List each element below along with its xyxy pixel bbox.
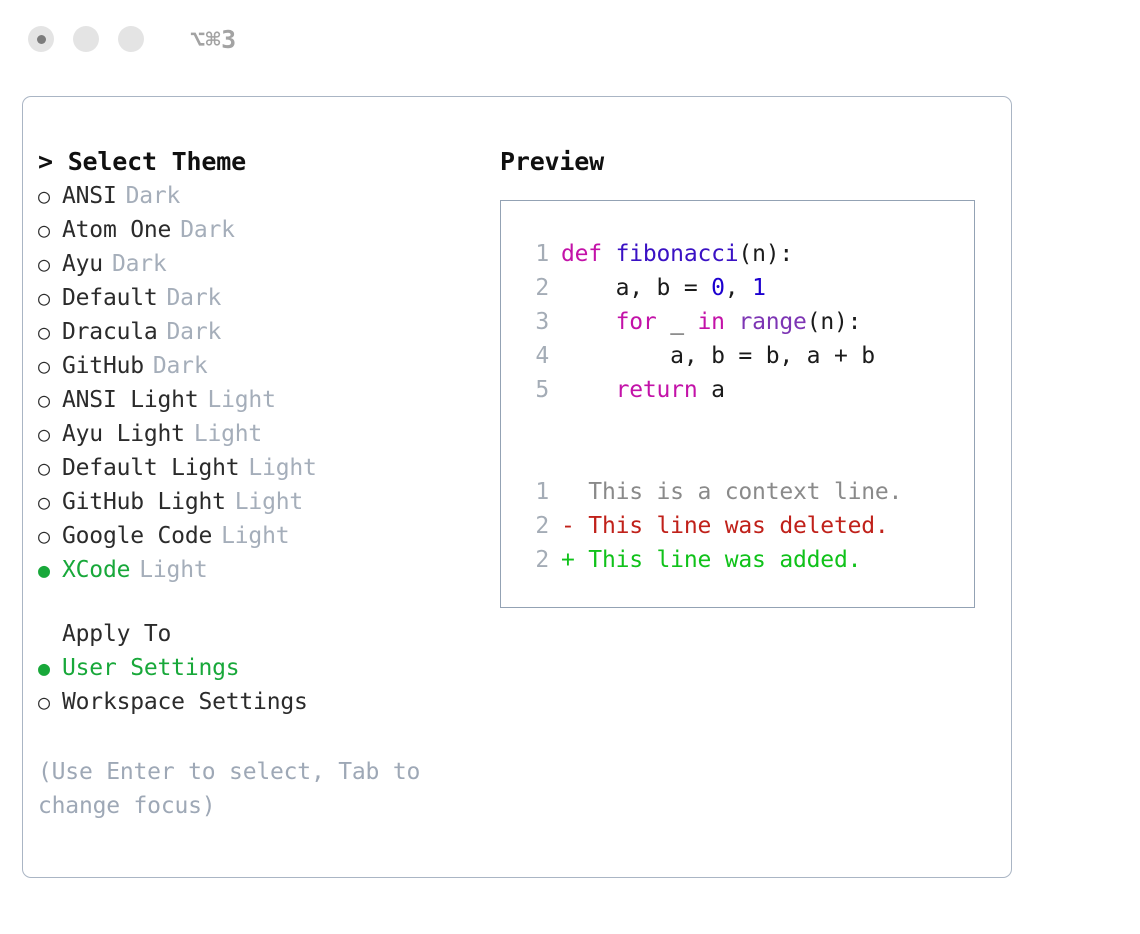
theme-option-label: Dracula: [62, 315, 158, 349]
diff-line-content: + This line was added.: [561, 543, 861, 577]
theme-option-ayu-light[interactable]: ○Ayu LightLight: [38, 417, 478, 451]
preview-box: 1def fibonacci(n):2 a, b = 0, 13 for _ i…: [500, 200, 975, 608]
theme-option-label: Default Light: [62, 451, 239, 485]
theme-option-label: Ayu Light: [62, 417, 185, 451]
radio-selected-icon: ●: [38, 651, 62, 685]
code-line-number: 3: [515, 305, 549, 339]
code-token: (n):: [738, 241, 793, 267]
radio-unselected-icon: ○: [38, 213, 62, 247]
apply-to-option-label: Workspace Settings: [62, 685, 308, 719]
theme-option-label: Default: [62, 281, 158, 315]
code-line-content: for _ in range(n):: [561, 305, 861, 339]
radio-unselected-icon: ○: [38, 485, 62, 519]
keyboard-shortcut-label: ⌥⌘3: [190, 27, 237, 52]
code-token: a, b = b, a + b: [561, 343, 875, 369]
theme-option-github-light[interactable]: ○GitHub LightLight: [38, 485, 478, 519]
theme-variant-tag: Light: [235, 485, 303, 519]
theme-variant-tag: Light: [139, 553, 207, 587]
preview-heading: Preview: [500, 145, 990, 179]
code-token: [725, 309, 739, 335]
theme-variant-tag: Light: [207, 383, 275, 417]
code-line-content: a, b = b, a + b: [561, 339, 875, 373]
theme-option-ansi[interactable]: ○ANSIDark: [38, 179, 478, 213]
preview-column: Preview 1def fibonacci(n):2 a, b = 0, 13…: [500, 145, 990, 608]
code-line: 4 a, b = b, a + b: [515, 339, 974, 373]
diff-line-number: 2: [515, 543, 549, 577]
code-line-number: 1: [515, 237, 549, 271]
theme-variant-tag: Light: [221, 519, 289, 553]
code-spacer-2: [515, 441, 974, 475]
radio-unselected-icon: ○: [38, 315, 62, 349]
code-line: 5 return a: [515, 373, 974, 407]
traffic-light-3-button[interactable]: [118, 26, 144, 52]
code-line-number: 2: [515, 271, 549, 305]
code-token: ,: [725, 275, 752, 301]
code-token: [561, 309, 616, 335]
theme-option-label: Google Code: [62, 519, 212, 553]
radio-unselected-icon: ○: [38, 247, 62, 281]
title-bar: ⌥⌘3: [0, 0, 1140, 78]
code-line-content: def fibonacci(n):: [561, 237, 793, 271]
code-token: fibonacci: [616, 241, 739, 267]
code-line-content: return a: [561, 373, 725, 407]
code-token: [561, 377, 616, 403]
radio-unselected-icon: ○: [38, 349, 62, 383]
theme-list: ○ANSIDark○Atom OneDark○AyuDark○DefaultDa…: [38, 179, 478, 587]
apply-to-option-workspace-settings[interactable]: ○Workspace Settings: [38, 685, 478, 719]
radio-unselected-icon: ○: [38, 519, 62, 553]
diff-line: 2- This line was deleted.: [515, 509, 974, 543]
select-theme-heading: > Select Theme: [38, 145, 478, 179]
code-line-content: a, b = 0, 1: [561, 271, 766, 305]
code-line: 1def fibonacci(n):: [515, 237, 974, 271]
keyboard-hint-text: (Use Enter to select, Tab to change focu…: [38, 755, 438, 823]
diff-line-number: 2: [515, 509, 549, 543]
theme-variant-tag: Dark: [112, 247, 167, 281]
theme-option-label: GitHub: [62, 349, 144, 383]
diff-sample: 1 This is a context line.2- This line wa…: [515, 475, 974, 577]
code-sample: 1def fibonacci(n):2 a, b = 0, 13 for _ i…: [515, 237, 974, 407]
traffic-light-active-button[interactable]: [28, 26, 54, 52]
code-line-number: 4: [515, 339, 549, 373]
diff-line: 1 This is a context line.: [515, 475, 974, 509]
theme-option-atom-one[interactable]: ○Atom OneDark: [38, 213, 478, 247]
code-token: _: [657, 309, 698, 335]
code-line-number: 5: [515, 373, 549, 407]
apply-to-heading: Apply To: [38, 617, 478, 651]
apply-to-option-label: User Settings: [62, 651, 239, 685]
theme-variant-tag: Dark: [167, 281, 222, 315]
theme-option-dracula[interactable]: ○DraculaDark: [38, 315, 478, 349]
code-line: 2 a, b = 0, 1: [515, 271, 974, 305]
theme-option-label: XCode: [62, 553, 130, 587]
radio-unselected-icon: ○: [38, 451, 62, 485]
theme-option-label: GitHub Light: [62, 485, 226, 519]
radio-unselected-icon: ○: [38, 179, 62, 213]
theme-option-default-light[interactable]: ○Default LightLight: [38, 451, 478, 485]
theme-variant-tag: Dark: [153, 349, 208, 383]
code-token: a, b =: [561, 275, 711, 301]
diff-line-content: This is a context line.: [561, 475, 902, 509]
code-token: in: [698, 309, 725, 335]
theme-variant-tag: Dark: [167, 315, 222, 349]
theme-option-label: ANSI: [62, 179, 117, 213]
diff-line-number: 1: [515, 475, 549, 509]
theme-selection-column: > Select Theme ○ANSIDark○Atom OneDark○Ay…: [38, 145, 478, 823]
traffic-light-2-button[interactable]: [73, 26, 99, 52]
theme-option-ansi-light[interactable]: ○ANSI LightLight: [38, 383, 478, 417]
theme-option-github[interactable]: ○GitHubDark: [38, 349, 478, 383]
theme-option-label: ANSI Light: [62, 383, 198, 417]
apply-to-option-user-settings[interactable]: ●User Settings: [38, 651, 478, 685]
radio-unselected-icon: ○: [38, 383, 62, 417]
main-panel: > Select Theme ○ANSIDark○Atom OneDark○Ay…: [22, 96, 1012, 878]
diff-line: 2+ This line was added.: [515, 543, 974, 577]
traffic-light-active-icon: [37, 35, 46, 44]
code-spacer: [515, 407, 974, 441]
theme-variant-tag: Dark: [180, 213, 235, 247]
theme-variant-tag: Light: [248, 451, 316, 485]
theme-option-default[interactable]: ○DefaultDark: [38, 281, 478, 315]
code-token: 1: [752, 275, 766, 301]
apply-to-list: ●User Settings○Workspace Settings: [38, 651, 478, 719]
theme-option-google-code[interactable]: ○Google CodeLight: [38, 519, 478, 553]
theme-variant-tag: Light: [194, 417, 262, 451]
theme-option-ayu[interactable]: ○AyuDark: [38, 247, 478, 281]
code-token: 0: [711, 275, 725, 301]
radio-unselected-icon: ○: [38, 685, 62, 719]
code-token: (n):: [807, 309, 862, 335]
code-token: return: [616, 377, 698, 403]
window-controls: [28, 26, 144, 52]
code-line: 3 for _ in range(n):: [515, 305, 974, 339]
code-token: range: [738, 309, 806, 335]
theme-option-label: Ayu: [62, 247, 103, 281]
code-token: for: [616, 309, 657, 335]
radio-unselected-icon: ○: [38, 417, 62, 451]
theme-option-label: Atom One: [62, 213, 171, 247]
diff-line-content: - This line was deleted.: [561, 509, 889, 543]
app-window: ⌥⌘3 > Select Theme ○ANSIDark○Atom OneDar…: [0, 0, 1140, 934]
code-token: def: [561, 241, 616, 267]
theme-variant-tag: Dark: [126, 179, 181, 213]
theme-option-xcode[interactable]: ●XCodeLight: [38, 553, 478, 587]
radio-unselected-icon: ○: [38, 281, 62, 315]
radio-selected-icon: ●: [38, 553, 62, 587]
code-token: a: [697, 377, 724, 403]
